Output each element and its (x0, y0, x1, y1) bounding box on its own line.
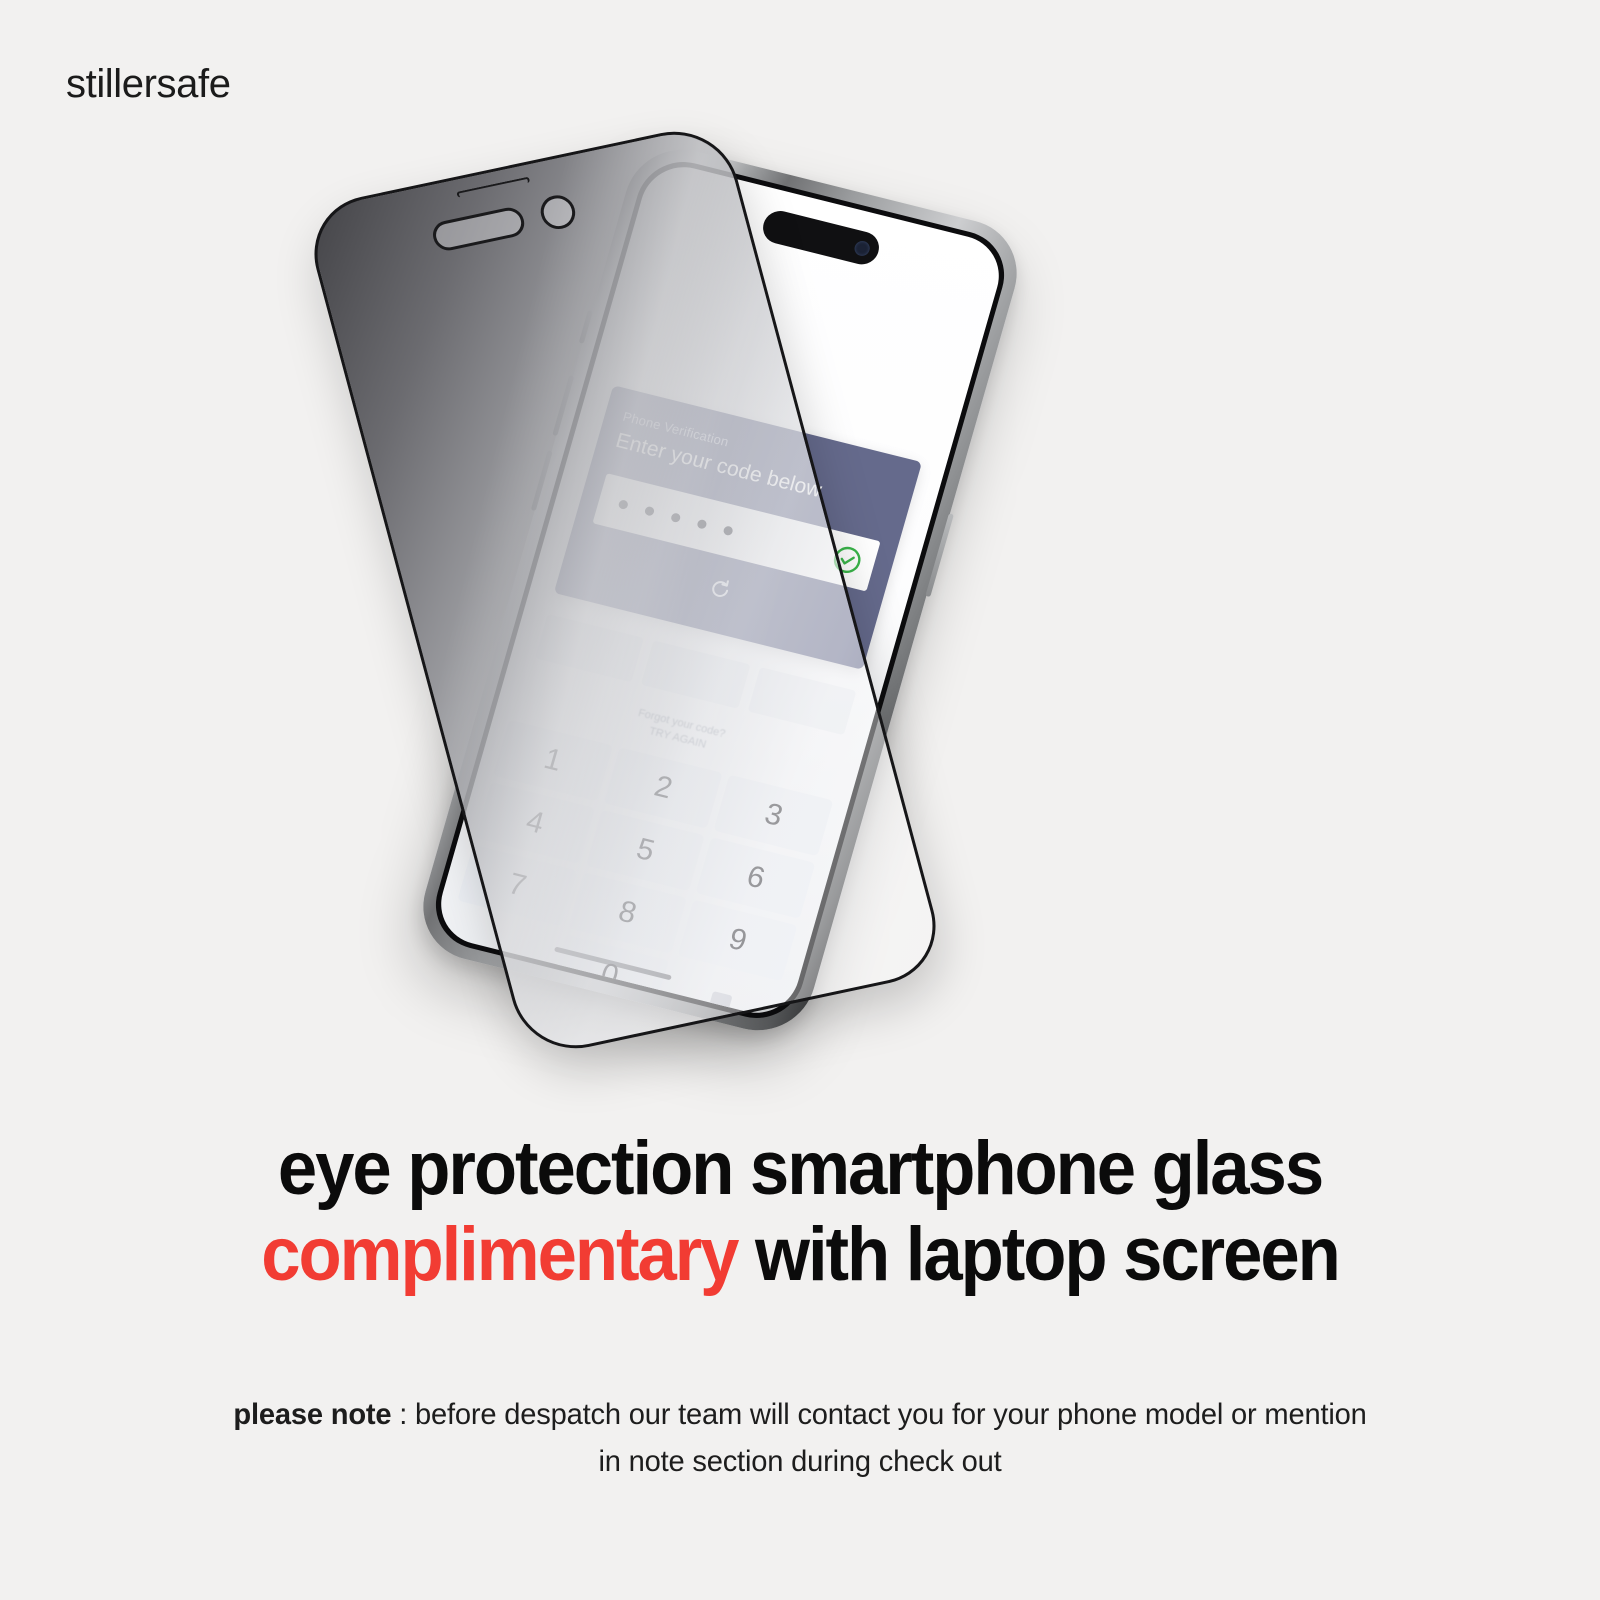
dynamic-island (759, 208, 883, 268)
note-separator: : (391, 1398, 415, 1431)
hero-stage: Phone Verification Enter your code below (400, 140, 1160, 1070)
note-line-2: in note section during check out (24, 1439, 1576, 1486)
note-line-1: please note : before despatch our team w… (24, 1392, 1576, 1439)
front-camera-icon (853, 239, 872, 257)
headline-line-1: eye protection smartphone glass (56, 1126, 1544, 1212)
page-title: eye protection smartphone glass complime… (56, 1126, 1544, 1298)
note-label: please note (233, 1398, 391, 1431)
dynamic-island-pill-cutout (430, 205, 528, 253)
brand-logo: stillersafe (66, 64, 231, 104)
hero-product-image: Phone Verification Enter your code below (0, 140, 1600, 1070)
headline-line-2: complimentary with laptop screen (56, 1212, 1544, 1298)
earpiece-slot-cutout (456, 177, 530, 198)
headline-line-2-rest: with laptop screen (737, 1212, 1338, 1297)
note-body-line-1: before despatch our team will contact yo… (415, 1398, 1367, 1431)
please-note-text: please note : before despatch our team w… (24, 1392, 1576, 1485)
headline-accent-word: complimentary (261, 1212, 737, 1297)
front-camera-circle-cutout (537, 192, 579, 232)
promo-page: stillersafe (0, 0, 1600, 1600)
